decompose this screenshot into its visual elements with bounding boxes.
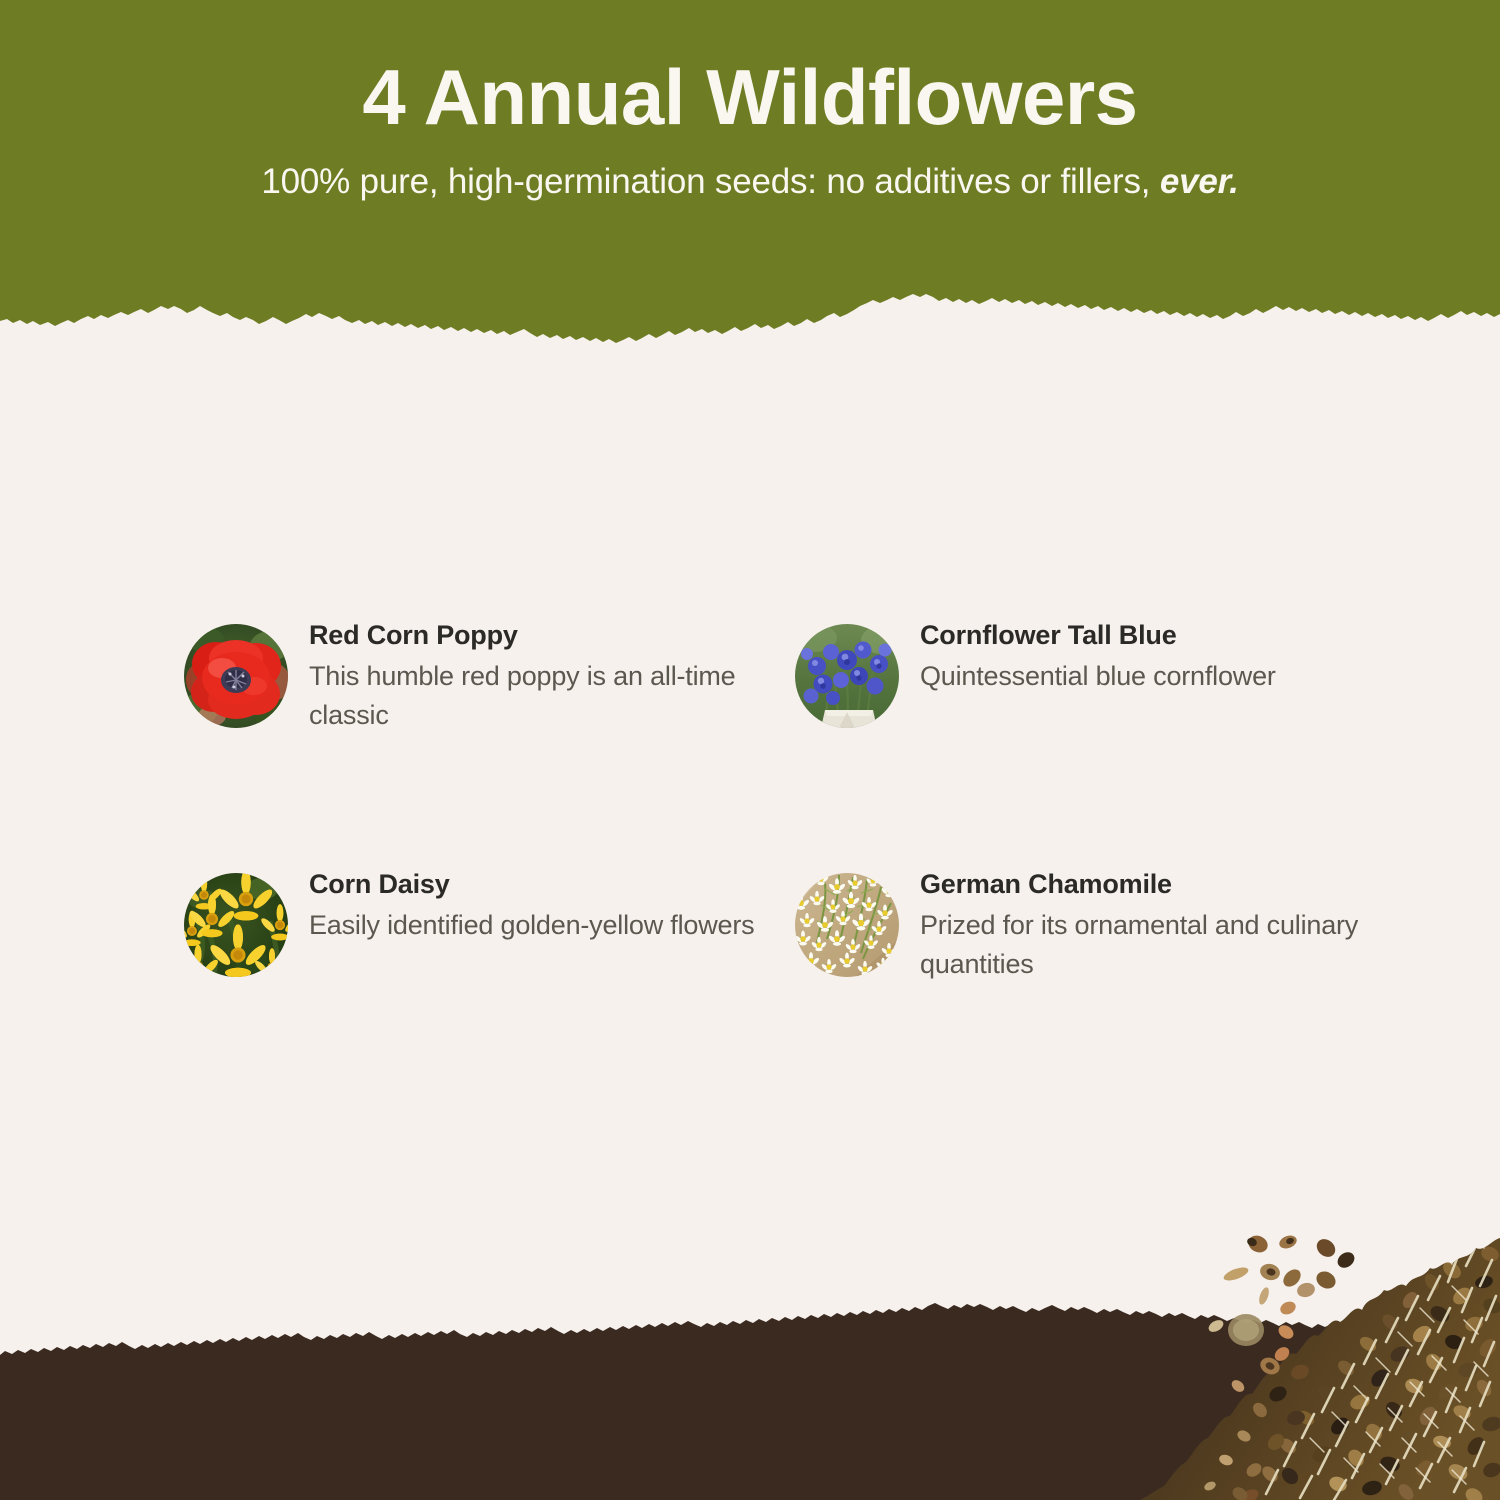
blue-cornflower-photo (795, 624, 899, 728)
list-item[interactable]: Cornflower Tall Blue Quintessential blue… (795, 618, 1370, 728)
german-chamomile-photo (795, 873, 899, 977)
flower-description: This humble red poppy is an all-time cla… (309, 657, 757, 735)
german-chamomile-photo-icon (795, 873, 899, 977)
list-item[interactable]: Red Corn Poppy This humble red poppy is … (184, 618, 759, 735)
red-poppy-photo-icon (184, 624, 288, 728)
red-poppy-photo (184, 624, 288, 728)
flower-name: Cornflower Tall Blue (920, 618, 1276, 653)
flower-name: German Chamomile (920, 867, 1368, 902)
flower-description: Quintessential blue cornflower (920, 657, 1276, 696)
yellow-corn-daisy-photo-icon (184, 873, 288, 977)
list-item-text: Cornflower Tall Blue Quintessential blue… (899, 618, 1276, 696)
list-item-text: Corn Daisy Easily identified golden-yell… (288, 867, 754, 945)
flower-description: Prized for its ornamental and culinary q… (920, 906, 1368, 984)
flower-name: Red Corn Poppy (309, 618, 757, 653)
seed-pile-icon (1140, 1230, 1500, 1500)
yellow-corn-daisy-photo (184, 873, 288, 977)
list-item[interactable]: German Chamomile Prized for its ornament… (795, 867, 1370, 984)
flower-description: Easily identified golden-yellow flowers (309, 906, 754, 945)
blue-cornflower-photo-icon (795, 624, 899, 728)
list-item-text: Red Corn Poppy This humble red poppy is … (288, 618, 757, 735)
list-item[interactable]: Corn Daisy Easily identified golden-yell… (184, 867, 759, 977)
flower-name: Corn Daisy (309, 867, 754, 902)
list-item-text: German Chamomile Prized for its ornament… (899, 867, 1368, 984)
